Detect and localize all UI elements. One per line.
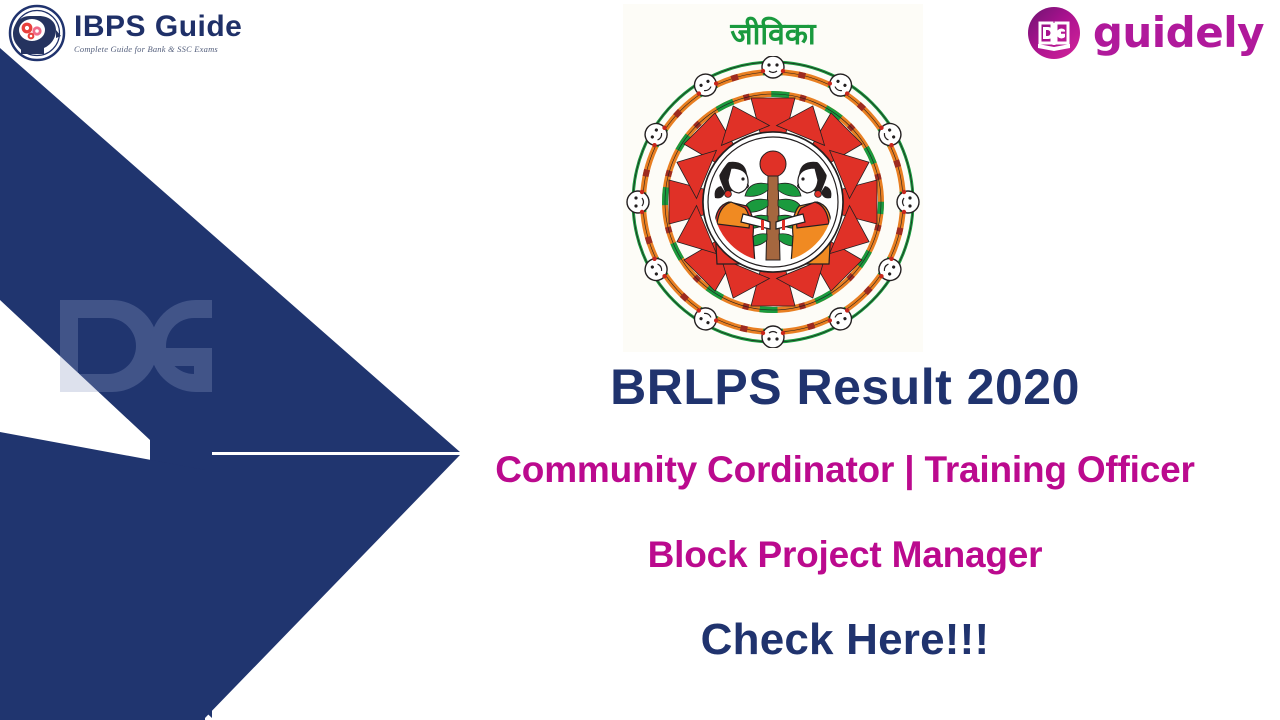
navy-chevron-arrow [0,0,500,720]
ibps-guide-wordmark: IBPS Guide [74,12,242,42]
ibps-guide-tagline: Complete Guide for Bank & SSC Exams [74,45,242,54]
chevron-tail-block [205,455,460,718]
guidely-logo[interactable]: guidely [1027,6,1264,60]
guidely-book-dg-icon [1027,6,1081,60]
subtitle-roles-line-2: Block Project Manager [440,534,1250,577]
jeevika-emblem: जीविका [623,4,923,352]
page-title: BRLPS Result 2020 [440,360,1250,415]
ibps-head-gears-icon [6,4,68,62]
chevron-lower-wing [0,432,205,720]
ibps-guide-logo[interactable]: IBPS Guide Complete Guide for Bank & SSC… [6,4,242,62]
check-here-cta[interactable]: Check Here!!! [440,616,1250,664]
jeevika-mandala-icon [623,56,923,348]
guidely-wordmark: guidely [1093,12,1264,54]
jeevika-caption: जीविका [623,20,923,50]
poster-canvas: IBPS Guide Complete Guide for Bank & SSC… [0,0,1280,720]
subtitle-roles-line-1: Community Cordinator | Training Officer [440,449,1250,492]
headline-block: BRLPS Result 2020 Community Cordinator |… [440,360,1250,664]
